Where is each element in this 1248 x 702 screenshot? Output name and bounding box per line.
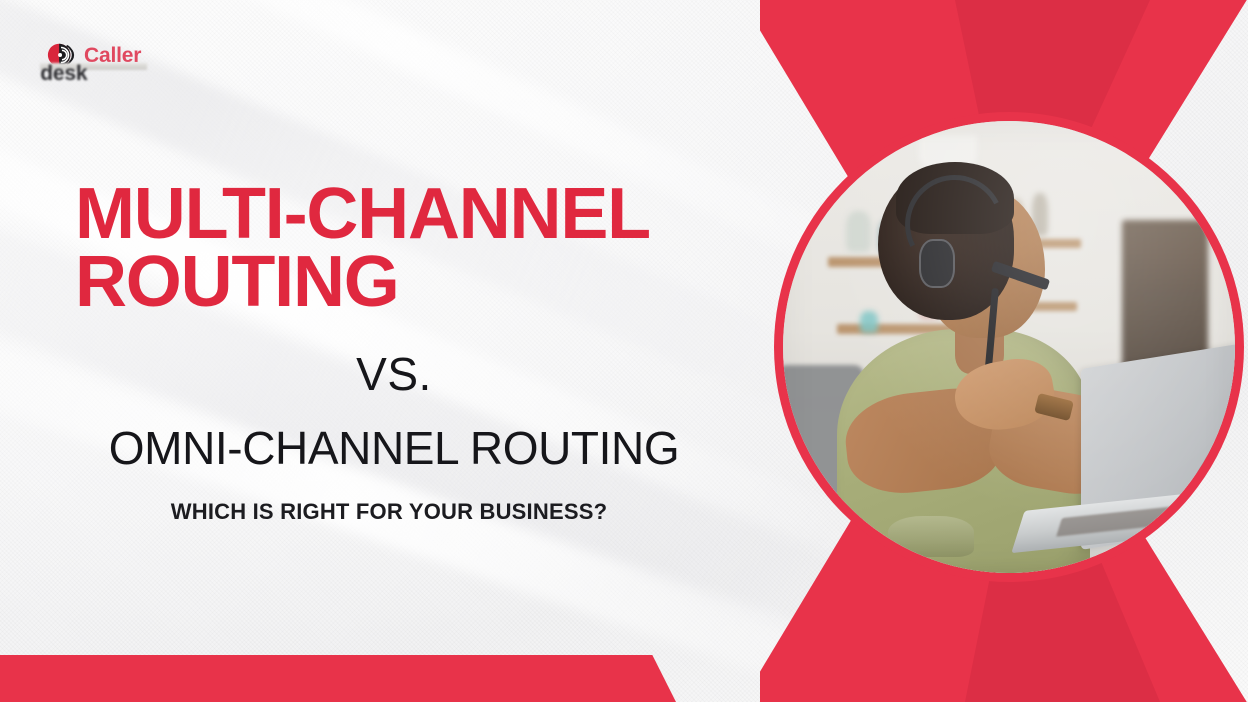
brand-logo[interactable]: Callerdesk (46, 40, 141, 70)
agent-photo (783, 121, 1235, 573)
brand-name-part2: desk (40, 63, 147, 70)
page-title: MULTI-CHANNELROUTING (0, 180, 770, 317)
headline-block: MULTI-CHANNELROUTING VS. OMNI-CHANNEL RO… (0, 180, 770, 525)
red-angled-footer-bar (0, 655, 676, 702)
photo-inner-shadow (783, 121, 1235, 573)
blog-banner: MULTI-CHANNELROUTING VS. OMNI-CHANNEL RO… (0, 0, 1248, 702)
brand-name: Callerdesk (84, 45, 141, 66)
title-line-2: ROUTING (75, 242, 399, 322)
circular-red-ring-frame (774, 112, 1244, 582)
versus-label: VS. (0, 347, 770, 401)
tagline: WHICH IS RIGHT FOR YOUR BUSINESS? (0, 499, 770, 525)
subtitle: OMNI-CHANNEL ROUTING (0, 421, 770, 475)
